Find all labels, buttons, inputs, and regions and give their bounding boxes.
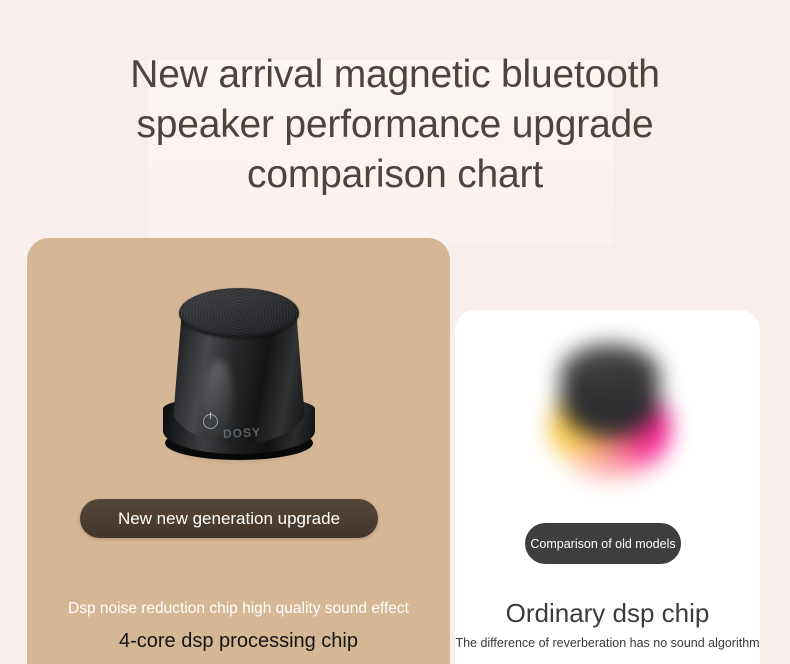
old-speaker-image bbox=[545, 338, 675, 488]
page-title-line-1: New arrival magnetic bluetooth bbox=[0, 50, 790, 100]
left-card-caption-dark: 4-core dsp processing chip bbox=[27, 630, 450, 653]
page-title: New arrival magnetic bluetooth speaker p… bbox=[0, 50, 790, 200]
page-title-line-3: comparison chart bbox=[0, 150, 790, 200]
old-model-subtitle: The difference of reverberation has no s… bbox=[455, 636, 760, 650]
old-model-badge-label: Comparison of old models bbox=[530, 536, 675, 552]
new-speaker-image: DOSY bbox=[155, 276, 323, 476]
speaker-brand-text: DOSY bbox=[223, 425, 262, 441]
old-model-card: Comparison of old models Ordinary dsp ch… bbox=[455, 310, 760, 664]
new-generation-badge[interactable]: New new generation upgrade bbox=[80, 499, 378, 538]
speaker-mesh-grille bbox=[179, 288, 299, 338]
power-button-icon bbox=[203, 414, 218, 429]
left-card-caption-white: Dsp noise reduction chip high quality so… bbox=[27, 600, 450, 618]
page-title-line-2: speaker performance upgrade bbox=[0, 100, 790, 150]
old-speaker-top-grille bbox=[569, 344, 651, 384]
old-model-title: Ordinary dsp chip bbox=[455, 598, 760, 629]
old-model-badge[interactable]: Comparison of old models bbox=[525, 523, 681, 564]
new-generation-badge-label: New new generation upgrade bbox=[118, 509, 340, 529]
new-generation-card: DOSY New new generation upgrade Dsp nois… bbox=[27, 238, 450, 664]
